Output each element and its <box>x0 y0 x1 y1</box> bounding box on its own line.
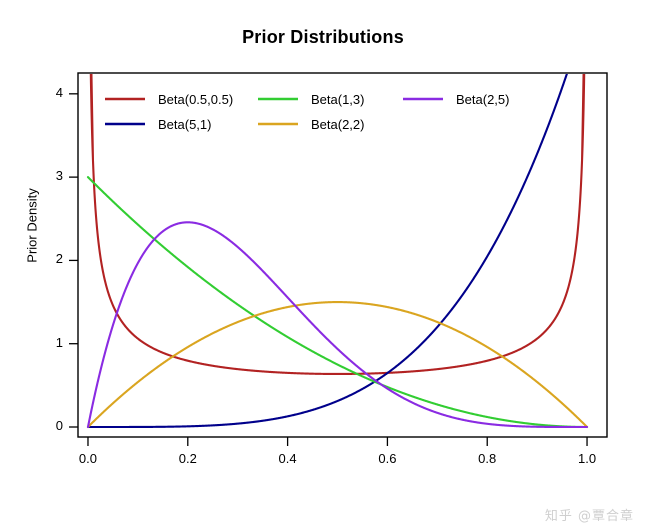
x-tick-label: 0.2 <box>158 451 218 466</box>
x-tick-label: 0.4 <box>258 451 318 466</box>
legend-label: Beta(2,2) <box>311 117 364 132</box>
y-tick-label: 0 <box>5 418 63 433</box>
x-tick-label: 0.0 <box>58 451 118 466</box>
y-tick-label: 4 <box>5 85 63 100</box>
y-tick-label: 3 <box>5 168 63 183</box>
x-tick-label: 1.0 <box>557 451 617 466</box>
x-tick-label: 0.6 <box>357 451 417 466</box>
y-tick-label: 2 <box>5 251 63 266</box>
chart-figure: Prior Distributions Prior Density Beta(0… <box>0 0 646 532</box>
curve-layer <box>88 0 587 427</box>
y-tick-label: 1 <box>5 335 63 350</box>
axis-layer <box>69 94 587 446</box>
legend-label: Beta(2,5) <box>456 92 509 107</box>
series-line-beta-0-5-0-5 <box>88 0 586 374</box>
chart-legend: Beta(0.5,0.5)Beta(1,3)Beta(2,5)Beta(5,1)… <box>105 92 509 132</box>
legend-label: Beta(0.5,0.5) <box>158 92 233 107</box>
zhihu-watermark: 知乎 @覃合章 <box>545 505 634 524</box>
chart-title: Prior Distributions <box>0 27 646 48</box>
legend-label: Beta(1,3) <box>311 92 364 107</box>
legend-label: Beta(5,1) <box>158 117 211 132</box>
x-tick-label: 0.8 <box>457 451 517 466</box>
series-line-beta-2-5 <box>88 222 587 427</box>
